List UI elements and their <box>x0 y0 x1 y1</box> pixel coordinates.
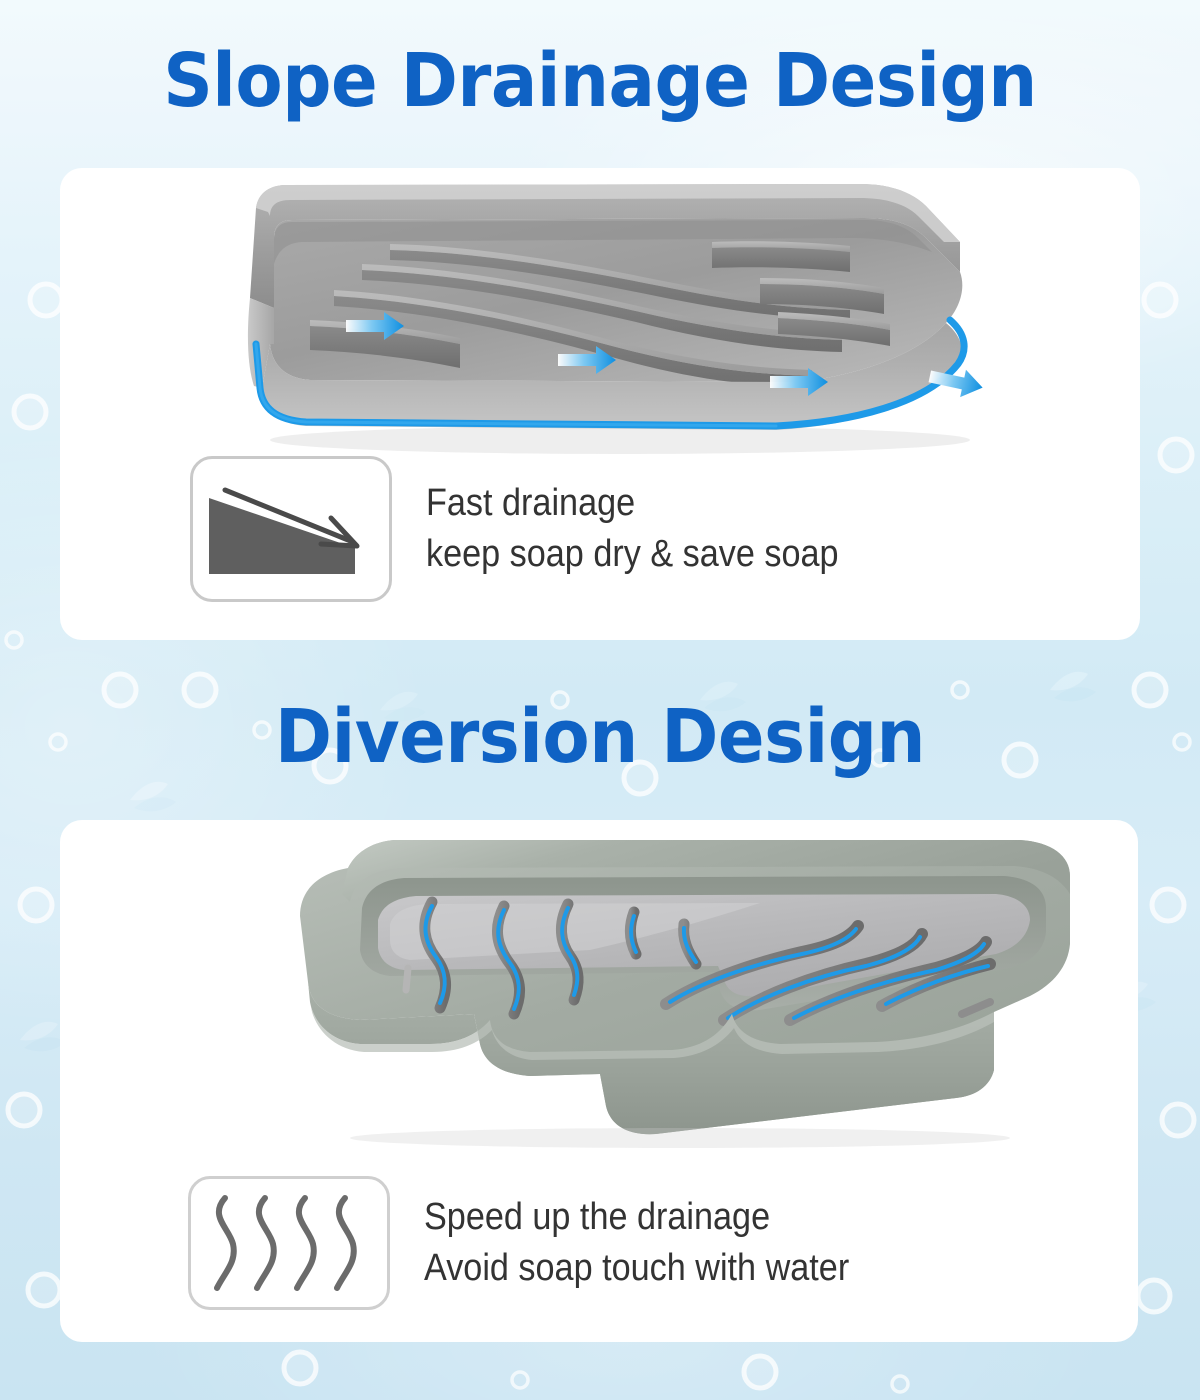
caption-line-1: Fast drainage <box>426 478 839 529</box>
slope-ramp-icon <box>203 470 379 588</box>
section-title-diversion-design: Diversion Design <box>42 700 1158 774</box>
card-slope-drainage: Fast drainage keep soap dry & save soap <box>60 168 1140 640</box>
caption-line-2: Avoid soap touch with water <box>424 1243 849 1294</box>
caption-text-speed-drainage: Speed up the drainage Avoid soap touch w… <box>424 1192 849 1295</box>
water-wave-lines-icon-box <box>188 1176 390 1310</box>
page-background: Slope Drainage Design <box>0 0 1200 1400</box>
caption-line-2: keep soap dry & save soap <box>426 529 839 580</box>
soap-dish-side-view-illustration <box>60 168 1140 468</box>
caption-text-fast-drainage: Fast drainage keep soap dry & save soap <box>426 478 839 581</box>
caption-line-1: Speed up the drainage <box>424 1192 849 1243</box>
section-title-slope-drainage: Slope Drainage Design <box>42 44 1158 118</box>
caption-row-fast-drainage: Fast drainage keep soap dry & save soap <box>190 456 884 602</box>
water-wave-lines-icon <box>203 1188 375 1298</box>
card-diversion-design: Speed up the drainage Avoid soap touch w… <box>60 820 1138 1342</box>
soap-dish-angled-view-illustration <box>60 824 1138 1164</box>
slope-ramp-icon-box <box>190 456 392 602</box>
caption-row-speed-drainage: Speed up the drainage Avoid soap touch w… <box>188 1176 896 1310</box>
